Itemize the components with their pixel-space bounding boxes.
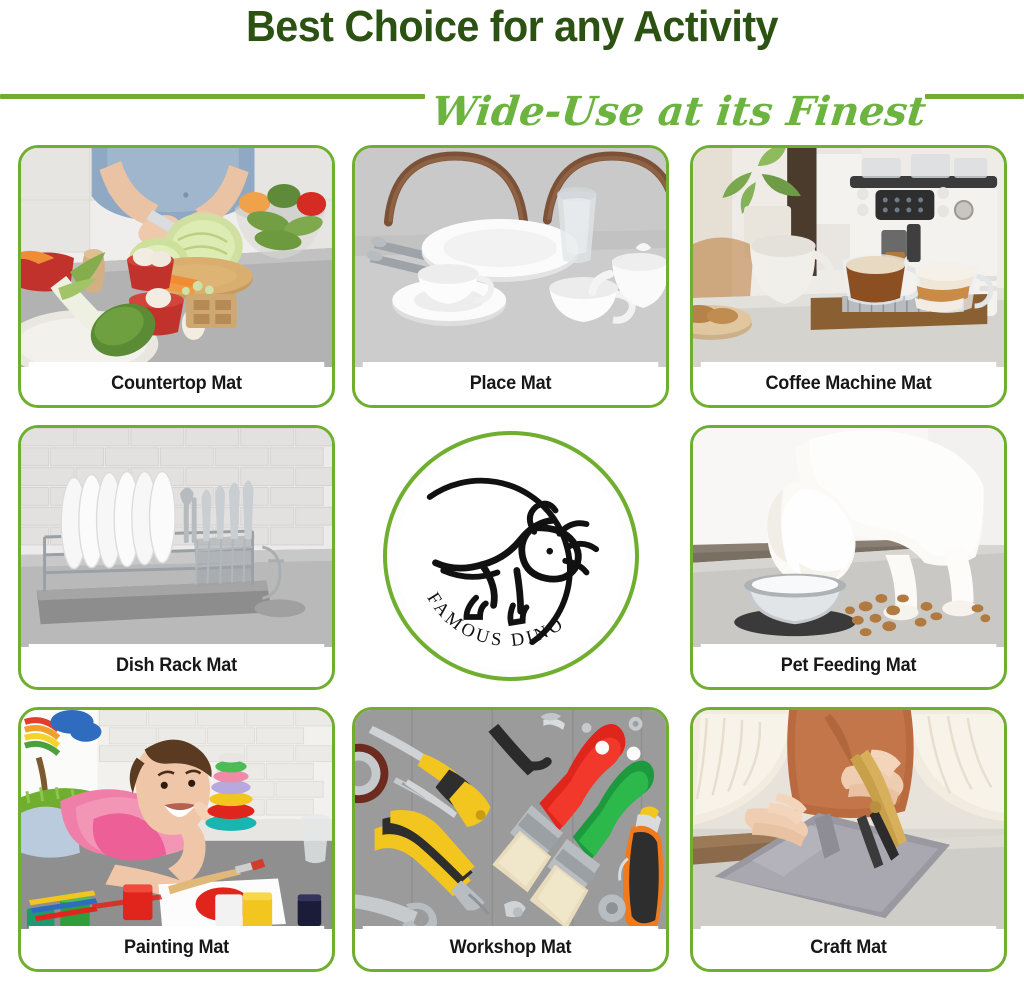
card-place-mat[interactable]: Place Mat <box>352 145 669 408</box>
card-image-craft <box>693 710 1004 929</box>
card-image-dish-rack <box>21 428 332 647</box>
card-caption: Countertop Mat <box>29 362 324 405</box>
card-countertop-mat[interactable]: Countertop Mat <box>18 145 335 408</box>
card-image-countertop <box>21 148 332 367</box>
feature-grid: Countertop Mat <box>0 0 1024 1004</box>
card-image-workshop <box>355 710 666 929</box>
card-caption: Dish Rack Mat <box>29 644 324 687</box>
card-caption: Coffee Machine Mat <box>701 362 996 405</box>
card-workshop-mat[interactable]: Workshop Mat <box>352 707 669 972</box>
card-caption: Craft Mat <box>701 926 996 969</box>
card-image-place <box>355 148 666 367</box>
card-caption: Painting Mat <box>29 926 324 969</box>
card-painting-mat[interactable]: Painting Mat <box>18 707 335 972</box>
card-caption: Place Mat <box>363 362 658 405</box>
card-dish-rack-mat[interactable]: Dish Rack Mat <box>18 425 335 690</box>
card-image-painting <box>21 710 332 929</box>
card-image-pet-feeding <box>693 428 1004 647</box>
brand-logo: FAMOUS DINO <box>383 431 639 681</box>
card-pet-feeding-mat[interactable]: Pet Feeding Mat <box>690 425 1007 690</box>
card-craft-mat[interactable]: Craft Mat <box>690 707 1007 972</box>
card-image-coffee <box>693 148 1004 367</box>
card-caption: Pet Feeding Mat <box>701 644 996 687</box>
card-coffee-machine-mat[interactable]: Coffee Machine Mat <box>690 145 1007 408</box>
famous-dino-logo-icon: FAMOUS DINO <box>387 435 635 677</box>
card-caption: Workshop Mat <box>363 926 658 969</box>
